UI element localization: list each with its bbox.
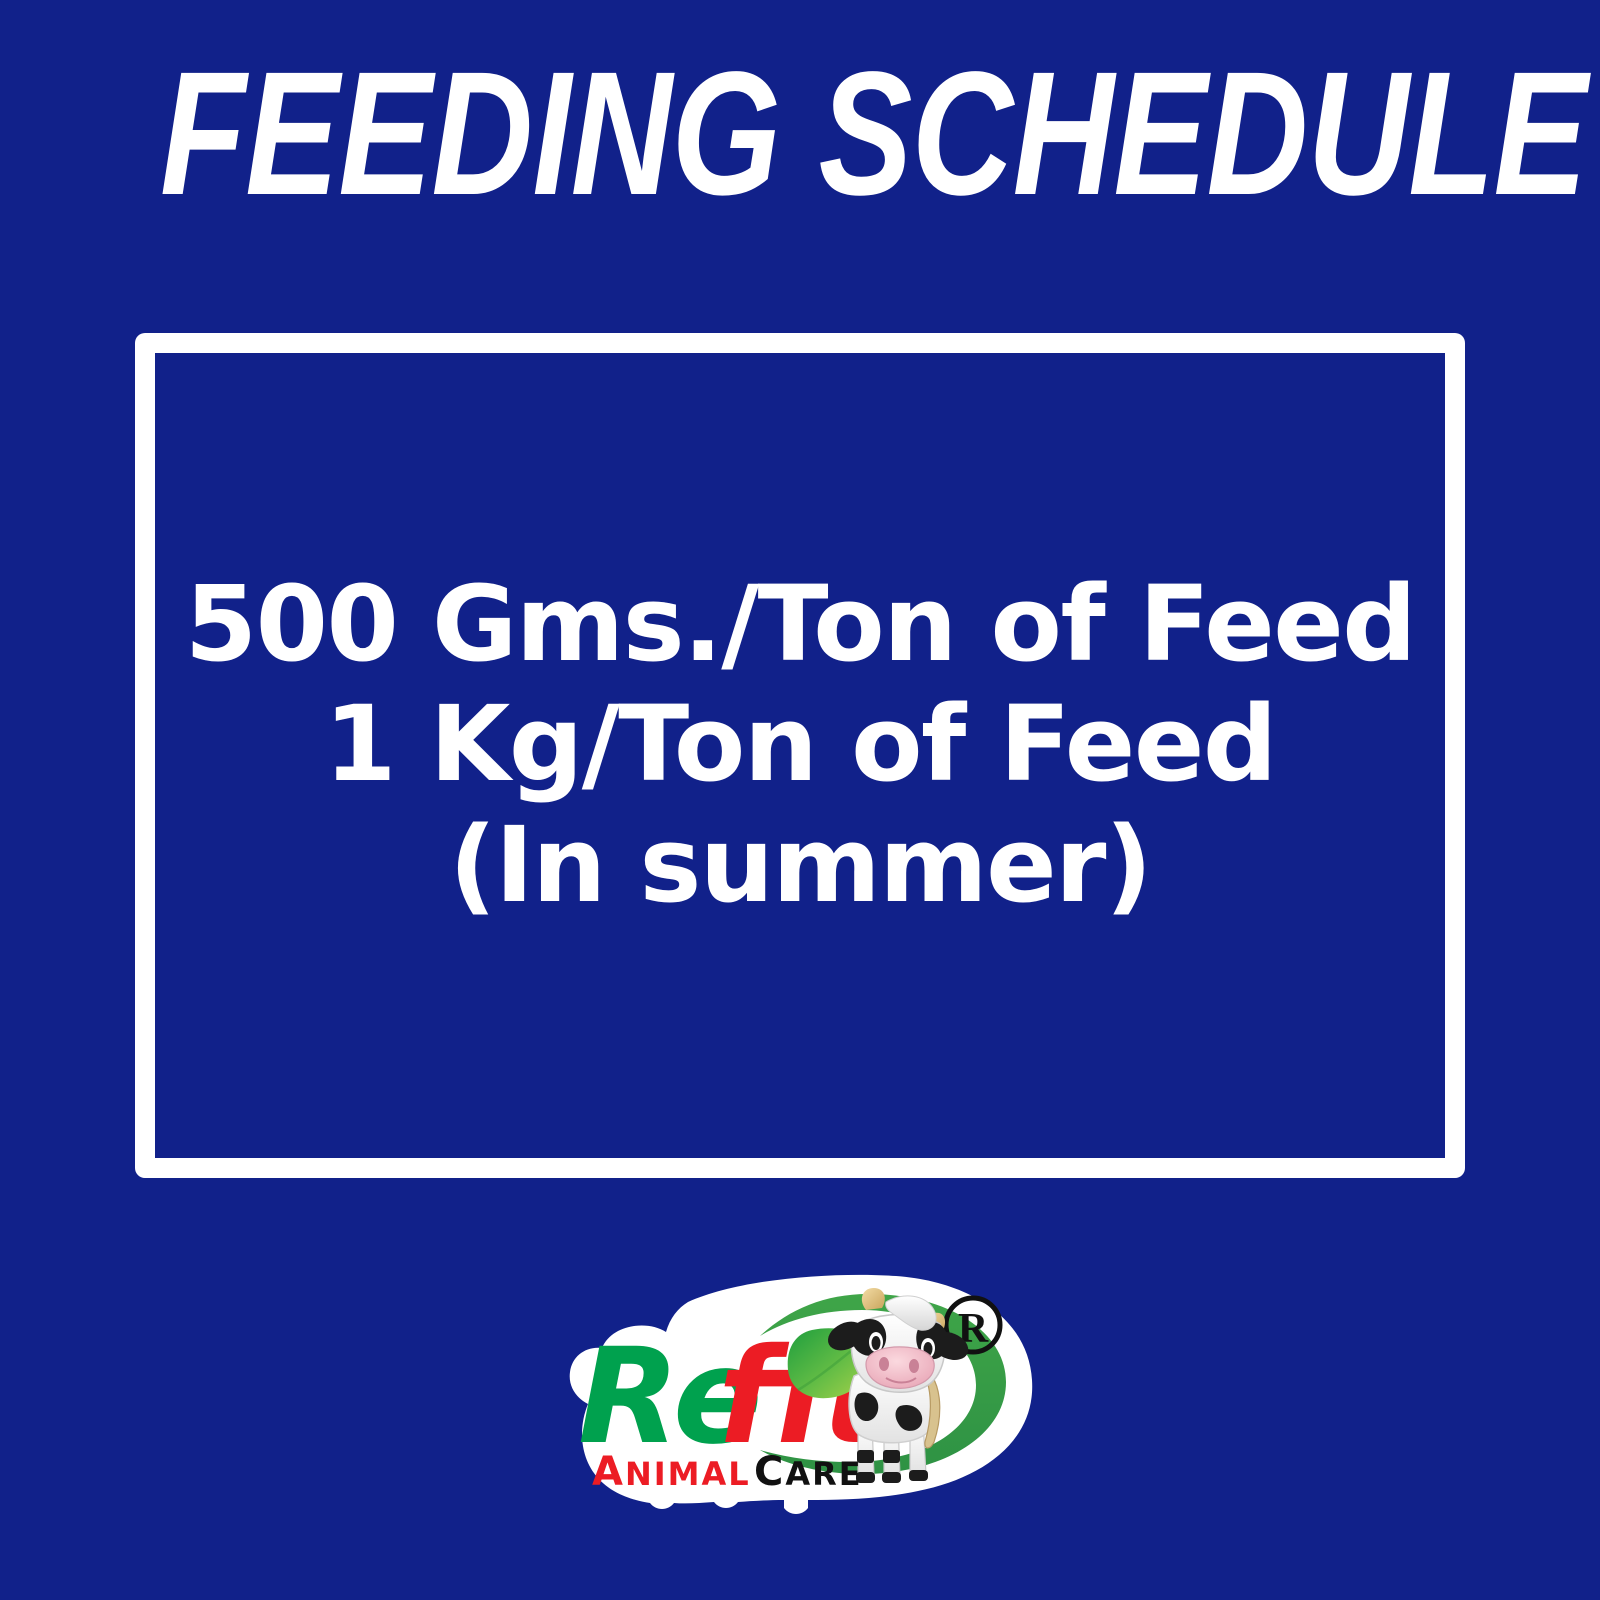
dosage-frame: 500 Gms./Ton of Feed 1 Kg/Ton of Feed (I…	[135, 333, 1465, 1178]
logo-tagline: ANIMAL CARE	[592, 1449, 863, 1495]
poster-canvas: FEEDING SCHEDULE 500 Gms./Ton of Feed 1 …	[0, 0, 1600, 1600]
dosage-line-3: (In summer)	[449, 805, 1151, 926]
dosage-content: 500 Gms./Ton of Feed 1 Kg/Ton of Feed (I…	[155, 353, 1445, 1158]
refit-animal-care-logo: R Re fit	[536, 1272, 1036, 1534]
logo-tagline-care: CARE	[754, 1449, 863, 1495]
logo-artwork: R Re fit	[536, 1272, 1036, 1534]
dosage-line-2: 1 Kg/Ton of Feed	[324, 684, 1276, 805]
dosage-line-1: 500 Gms./Ton of Feed	[185, 564, 1416, 685]
logo-tagline-animal: ANIMAL	[592, 1449, 751, 1495]
page-title: FEEDING SCHEDULE	[160, 46, 1440, 222]
